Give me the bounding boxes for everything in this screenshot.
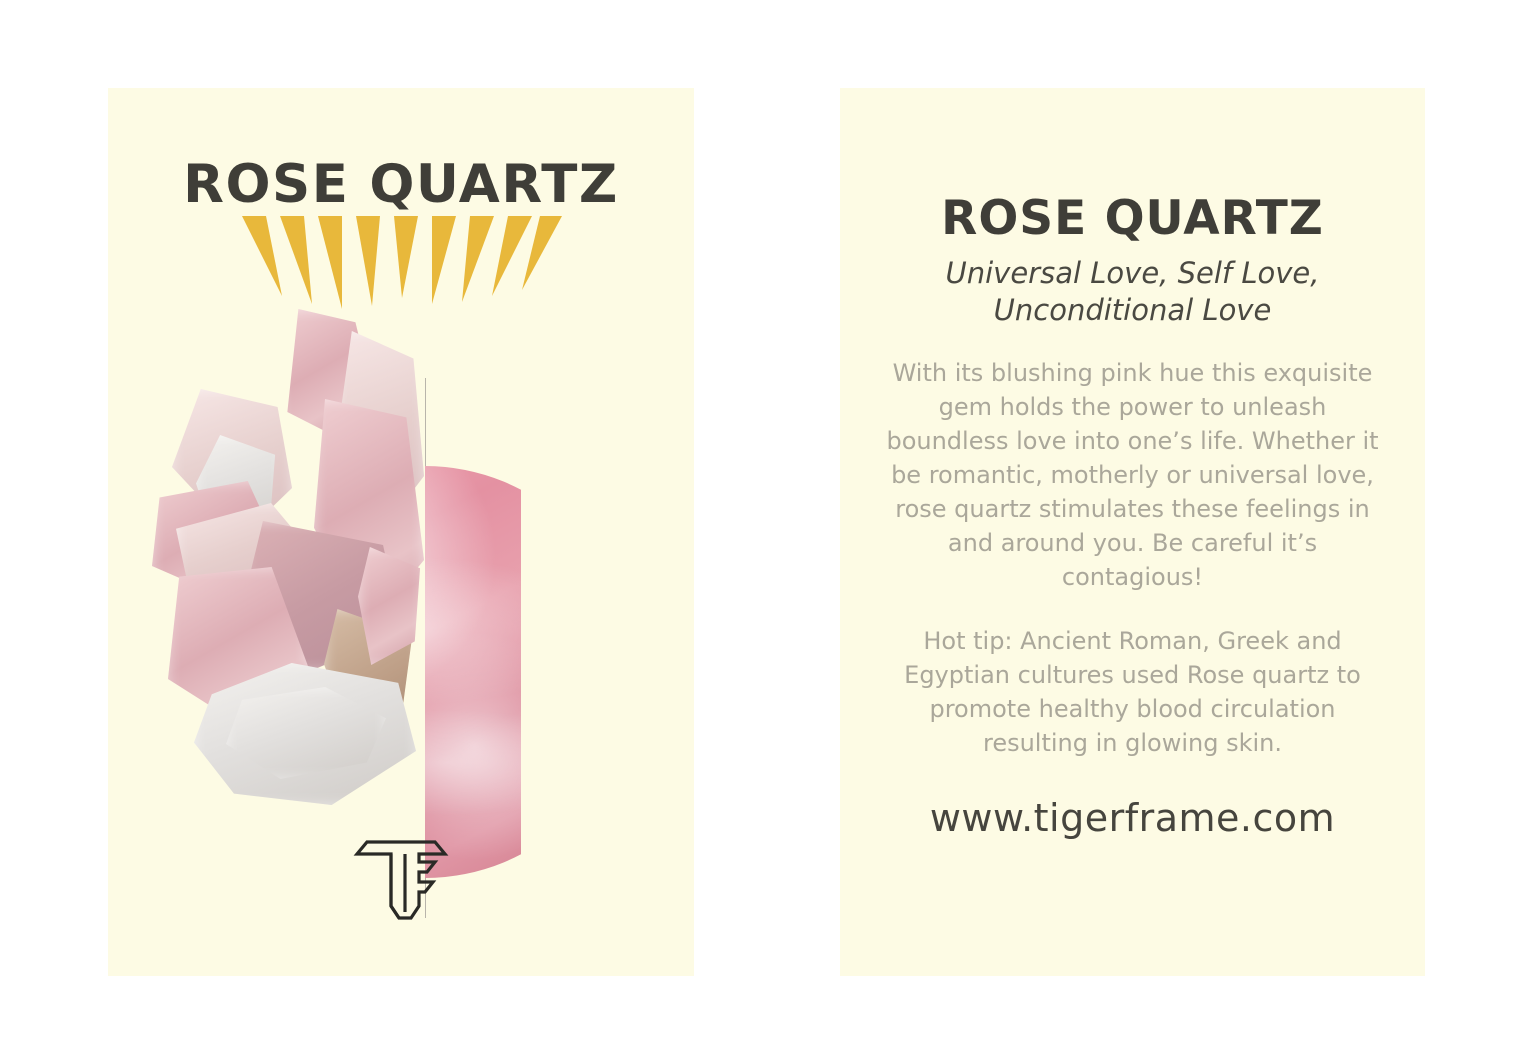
back-title: ROSE QUARTZ xyxy=(876,194,1389,243)
product-card-back: ROSE QUARTZ Universal Love, Self Love, U… xyxy=(840,88,1425,976)
raw-crystal-cluster xyxy=(148,303,426,813)
sunburst-rays xyxy=(108,214,694,309)
polished-sphere xyxy=(425,466,521,878)
back-content: ROSE QUARTZ Universal Love, Self Love, U… xyxy=(876,194,1389,840)
tf-monogram-icon xyxy=(353,826,449,938)
sunburst-icon xyxy=(236,214,566,309)
hot-tip-paragraph: Hot tip: Ancient Roman, Greek and Egypti… xyxy=(876,624,1389,760)
description-paragraph: With its blushing pink hue this exquisit… xyxy=(876,356,1389,595)
brand-logo xyxy=(108,826,694,938)
product-card-front: ROSE QUARTZ xyxy=(108,88,694,976)
gem-photo xyxy=(108,303,694,823)
back-subtitle: Universal Love, Self Love, Unconditional… xyxy=(876,255,1389,329)
website-url[interactable]: www.tigerframe.com xyxy=(876,796,1389,840)
front-title: ROSE QUARTZ xyxy=(108,158,694,211)
